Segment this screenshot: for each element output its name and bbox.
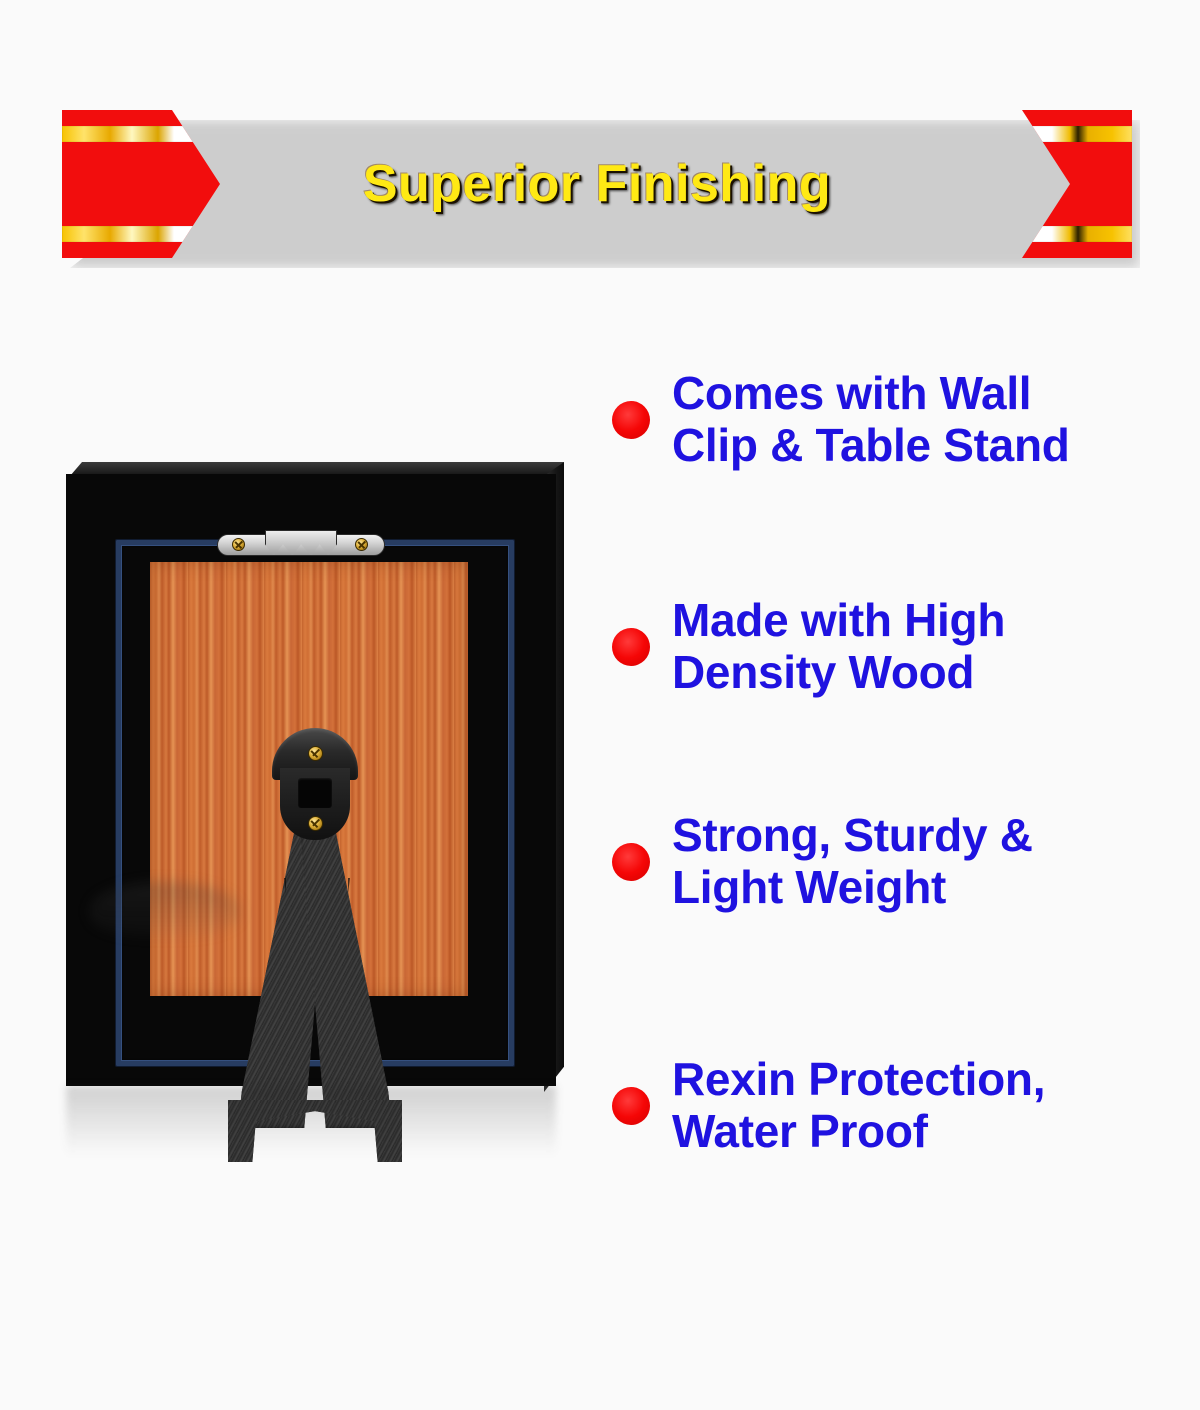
stand-reflection (90, 882, 240, 938)
feature-line-1: Rexin Protection, (672, 1054, 1045, 1106)
feature-text: Made with High Density Wood (672, 595, 1005, 698)
feature-line-2: Light Weight (672, 862, 1033, 914)
list-item: Strong, Sturdy & Light Weight (612, 810, 1182, 913)
feature-text: Comes with Wall Clip & Table Stand (672, 368, 1070, 471)
banner-ribbon: Superior Finishing (62, 110, 1132, 260)
screw-icon (308, 746, 323, 761)
product-image (60, 450, 580, 1210)
bullet-dot-icon (612, 1087, 650, 1125)
list-item: Made with High Density Wood (612, 595, 1182, 698)
screw-icon (308, 816, 323, 831)
feature-text: Strong, Sturdy & Light Weight (672, 810, 1033, 913)
feature-line-2: Density Wood (672, 647, 1005, 699)
bullet-dot-icon (612, 843, 650, 881)
list-item: Comes with Wall Clip & Table Stand (612, 368, 1182, 471)
feature-list: Comes with Wall Clip & Table Stand Made … (612, 368, 1182, 1203)
stand-slot (298, 778, 332, 808)
list-item: Rexin Protection, Water Proof (612, 1054, 1182, 1157)
bullet-dot-icon (612, 401, 650, 439)
feature-line-1: Made with High (672, 595, 1005, 647)
feature-line-2: Clip & Table Stand (672, 420, 1070, 472)
bullet-dot-icon (612, 628, 650, 666)
sawtooth-hanger-icon (217, 530, 385, 560)
banner-title: Superior Finishing (62, 110, 1132, 258)
feature-line-2: Water Proof (672, 1106, 1045, 1158)
feature-line-1: Comes with Wall (672, 368, 1070, 420)
screw-icon (355, 538, 368, 551)
frame-reflection (66, 1086, 556, 1156)
feature-line-1: Strong, Sturdy & (672, 810, 1033, 862)
screw-icon (232, 538, 245, 551)
infographic-page: Superior Finishing (0, 0, 1200, 1410)
feature-text: Rexin Protection, Water Proof (672, 1054, 1045, 1157)
